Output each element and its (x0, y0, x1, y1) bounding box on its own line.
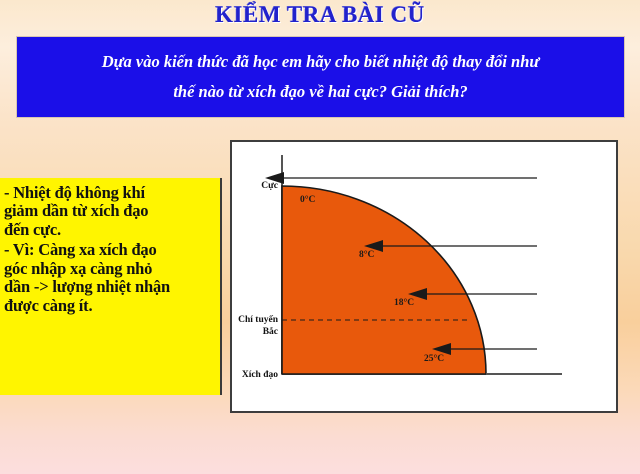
answer-line-2: giảm dần từ xích đạo (4, 202, 216, 220)
answer-line-6: dần -> lượng nhiệt nhận (4, 278, 216, 296)
temp-label-8c: 8°C (359, 249, 375, 260)
temperature-zone-shape (282, 186, 486, 374)
temp-label-18c: 18°C (394, 297, 414, 308)
answer-line-7: được càng ít. (4, 297, 216, 315)
answer-line-4: - Vì: Càng xa xích đạo (4, 241, 216, 259)
answer-line-3: đến cực. (4, 221, 216, 239)
question-line-2: thế nào từ xích đạo về hai cực? Giải thí… (173, 80, 467, 104)
answer-line-5: góc nhập xạ càng nhỏ (4, 260, 216, 278)
label-pole: Cực (261, 181, 278, 191)
label-equator: Xích đạo (242, 370, 278, 380)
answer-panel: - Nhiệt độ không khí giảm dần từ xích đạ… (0, 178, 222, 395)
temperature-zone-diagram: Cực Chí tuyến Bắc Xích đạo 0°C 8°C 18°C … (232, 142, 616, 411)
answer-line-1: - Nhiệt độ không khí (4, 184, 216, 202)
label-tropic-line-1: Chí tuyến (238, 314, 279, 325)
slide-canvas: KIỂM TRA BÀI CŨ Dựa vào kiến thức đã học… (0, 0, 640, 474)
label-tropic-line-2: Bắc (263, 326, 278, 337)
page-title: KIỂM TRA BÀI CŨ (0, 2, 640, 28)
temp-label-25c: 25°C (424, 353, 444, 364)
question-line-1: Dựa vào kiến thức đã học em hãy cho biết… (102, 50, 540, 74)
question-panel: Dựa vào kiến thức đã học em hãy cho biết… (16, 36, 625, 118)
diagram-panel: Cực Chí tuyến Bắc Xích đạo 0°C 8°C 18°C … (230, 140, 618, 413)
temp-label-0c: 0°C (300, 194, 316, 205)
sun-ray-arrow-1 (265, 172, 537, 184)
